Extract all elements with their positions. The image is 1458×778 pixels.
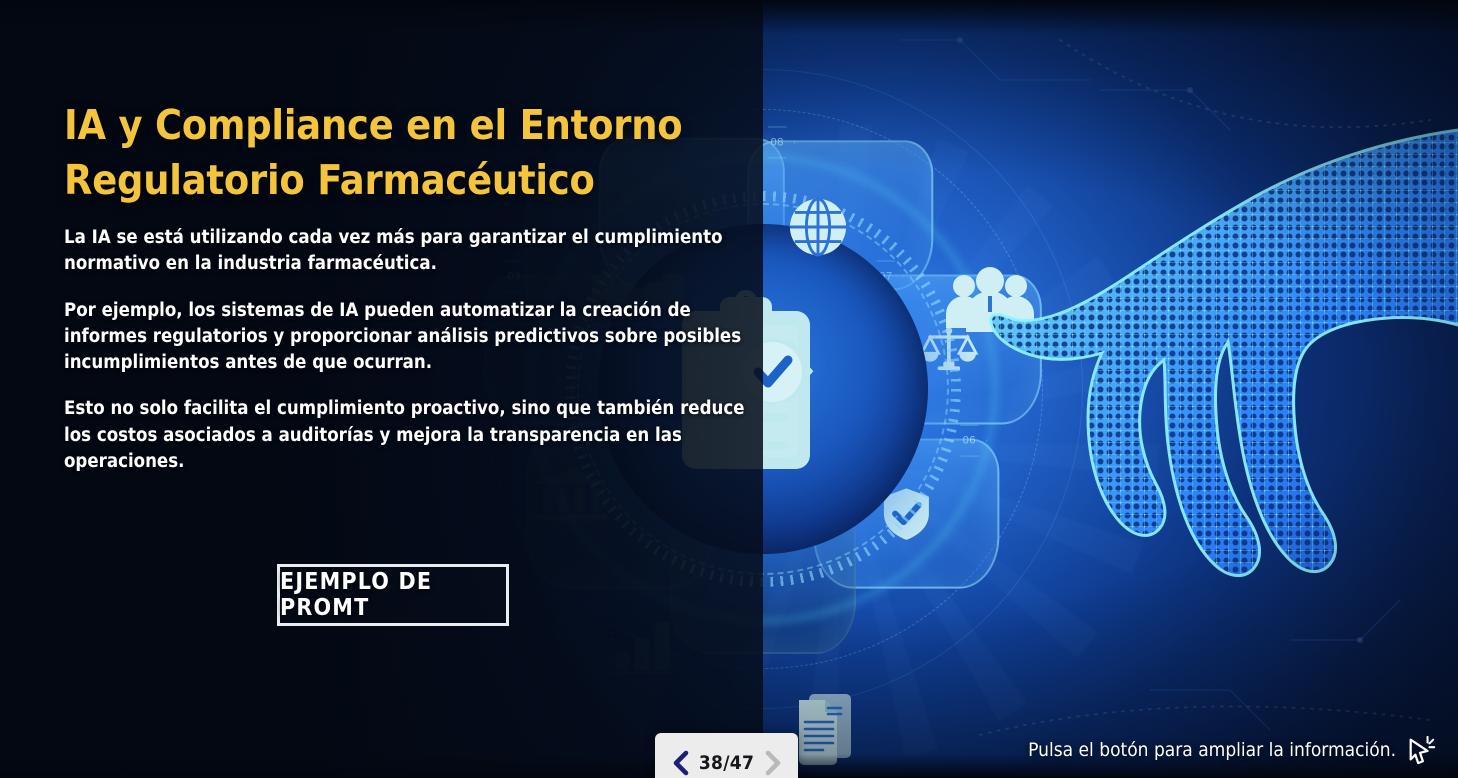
chevron-left-icon[interactable] [671,750,691,776]
page-counter: 38/47 [699,752,754,774]
body-paragraph-2: Por ejemplo, los sistemas de IA pueden a… [64,298,754,377]
chevron-right-icon[interactable] [762,750,782,776]
page-title-line-2: Regulatorio Farmacéutico [64,156,595,204]
slide-canvas: 01 08 07 06 [0,0,1458,778]
top-dark-band [0,0,1458,34]
body-paragraph-1: La IA se está utilizando cada vez más pa… [64,225,754,278]
hint-banner: Pulsa el botón para ampliar la informaci… [1028,734,1436,766]
ejemplo-de-promt-button[interactable]: EJEMPLO DE PROMT [277,564,509,626]
click-cursor-icon [1406,734,1436,766]
page-title: IA y Compliance en el Entorno Regulatori… [64,98,754,207]
pager: 38/47 [655,733,798,778]
body-paragraph-3: Esto no solo facilita el cumplimiento pr… [64,396,754,475]
text-content-column: IA y Compliance en el Entorno Regulatori… [64,98,754,495]
hint-text: Pulsa el botón para ampliar la informaci… [1028,739,1396,761]
page-title-line-1: IA y Compliance en el Entorno [64,101,682,149]
